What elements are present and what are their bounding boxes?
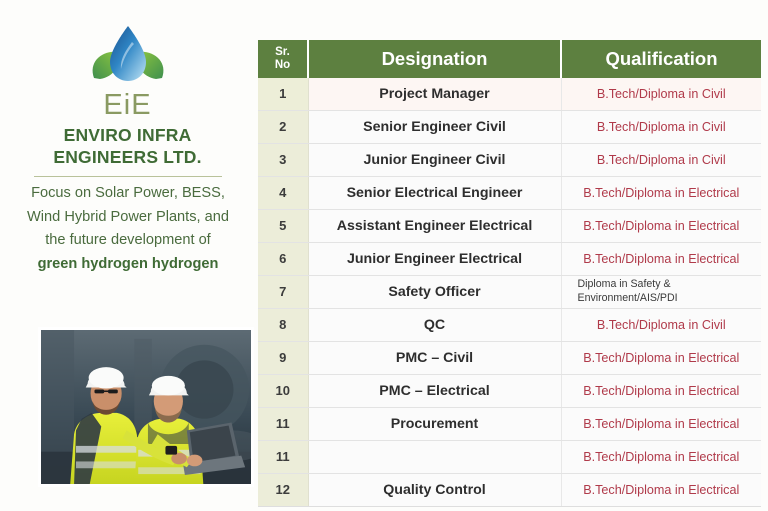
cell-qualification: B.Tech/Diploma in Electrical [561, 440, 761, 473]
cell-qualification: B.Tech/Diploma in Civil [561, 143, 761, 176]
cell-qualification: B.Tech/Diploma in Electrical [561, 407, 761, 440]
cell-sr-no: 12 [258, 473, 308, 506]
company-name-line2: ENGINEERS LTD. [0, 147, 255, 169]
table-row: 11B.Tech/Diploma in Electrical [258, 440, 761, 473]
table-row: 10PMC – ElectricalB.Tech/Diploma in Elec… [258, 374, 761, 407]
cell-sr-no: 6 [258, 242, 308, 275]
cell-designation: Junior Engineer Electrical [308, 242, 561, 275]
cell-sr-no: 7 [258, 275, 308, 308]
cell-designation: Quality Control [308, 473, 561, 506]
cell-designation: Senior Electrical Engineer [308, 176, 561, 209]
table-row: 5Assistant Engineer ElectricalB.Tech/Dip… [258, 209, 761, 242]
table-row: 12Quality ControlB.Tech/Diploma in Elect… [258, 473, 761, 506]
cell-designation: Junior Engineer Civil [308, 143, 561, 176]
table-row: 1Project ManagerB.Tech/Diploma in Civil [258, 78, 761, 111]
column-header-qualification: Qualification [561, 40, 761, 78]
cell-sr-no: 10 [258, 374, 308, 407]
cell-sr-no: 2 [258, 110, 308, 143]
water-droplet-with-leaves-logo-icon [80, 22, 176, 94]
cell-qualification: B.Tech/Diploma in Electrical [561, 473, 761, 506]
table-header-row: Sr. No Designation Qualification [258, 40, 761, 78]
table-row: 4Senior Electrical EngineerB.Tech/Diplom… [258, 176, 761, 209]
left-brand-panel: EiE ENVIRO INFRA ENGINEERS LTD. Focus on… [0, 0, 255, 511]
cell-qualification: B.Tech/Diploma in Civil [561, 308, 761, 341]
sr-header-line2: No [260, 59, 305, 72]
table-body: 1Project ManagerB.Tech/Diploma in Civil2… [258, 78, 761, 507]
cell-sr-no: 9 [258, 341, 308, 374]
cell-qualification: B.Tech/Diploma in Civil [561, 110, 761, 143]
cell-designation: Senior Engineer Civil [308, 110, 561, 143]
cell-qualification: B.Tech/Diploma in Electrical [561, 341, 761, 374]
cell-designation: Procurement [308, 407, 561, 440]
designation-qualification-table: Sr. No Designation Qualification 1Projec… [258, 40, 745, 507]
cell-qualification: B.Tech/Diploma in Electrical [561, 374, 761, 407]
table-head: Sr. No Designation Qualification [258, 40, 761, 78]
sr-header-line1: Sr. [260, 46, 305, 59]
cell-qualification: Diploma in Safety & Environment/AIS/PDI [561, 275, 761, 308]
tagline-emphasis: green hydrogen hydrogen [38, 256, 219, 272]
cell-qualification: B.Tech/Diploma in Electrical [561, 176, 761, 209]
cell-sr-no: 5 [258, 209, 308, 242]
cell-designation: Assistant Engineer Electrical [308, 209, 561, 242]
engineers-photo [38, 327, 254, 487]
cell-qualification: B.Tech/Diploma in Electrical [561, 209, 761, 242]
table: Sr. No Designation Qualification 1Projec… [258, 40, 761, 507]
cell-designation: PMC – Civil [308, 341, 561, 374]
table-row: 2Senior Engineer CivilB.Tech/Diploma in … [258, 110, 761, 143]
table-row: 6Junior Engineer ElectricalB.Tech/Diplom… [258, 242, 761, 275]
cell-designation: QC [308, 308, 561, 341]
company-name: ENVIRO INFRA ENGINEERS LTD. [0, 125, 255, 168]
brand-divider [34, 176, 222, 177]
cell-designation: Project Manager [308, 78, 561, 111]
table-row: 11ProcurementB.Tech/Diploma in Electrica… [258, 407, 761, 440]
tagline: Focus on Solar Power, BESS, Wind Hybrid … [24, 182, 232, 277]
table-row: 3Junior Engineer CivilB.Tech/Diploma in … [258, 143, 761, 176]
table-row: 7Safety OfficerDiploma in Safety & Envir… [258, 275, 761, 308]
company-name-line1: ENVIRO INFRA [0, 125, 255, 147]
cell-sr-no: 1 [258, 78, 308, 111]
cell-designation: PMC – Electrical [308, 374, 561, 407]
brand-block: EiE ENVIRO INFRA ENGINEERS LTD. [0, 22, 255, 177]
column-header-sr-no: Sr. No [258, 40, 308, 78]
logo-abbreviation: EiE [0, 91, 255, 120]
cell-qualification: B.Tech/Diploma in Electrical [561, 242, 761, 275]
cell-sr-no: 11 [258, 440, 308, 473]
cell-sr-no: 4 [258, 176, 308, 209]
table-row: 9PMC – CivilB.Tech/Diploma in Electrical [258, 341, 761, 374]
column-header-designation: Designation [308, 40, 561, 78]
cell-designation [308, 440, 561, 473]
cell-sr-no: 8 [258, 308, 308, 341]
cell-sr-no: 11 [258, 407, 308, 440]
photo-illustration [41, 330, 251, 484]
cell-sr-no: 3 [258, 143, 308, 176]
cell-designation: Safety Officer [308, 275, 561, 308]
tagline-text: Focus on Solar Power, BESS, Wind Hybrid … [27, 185, 229, 248]
table-row: 8QCB.Tech/Diploma in Civil [258, 308, 761, 341]
cell-qualification: B.Tech/Diploma in Civil [561, 78, 761, 111]
